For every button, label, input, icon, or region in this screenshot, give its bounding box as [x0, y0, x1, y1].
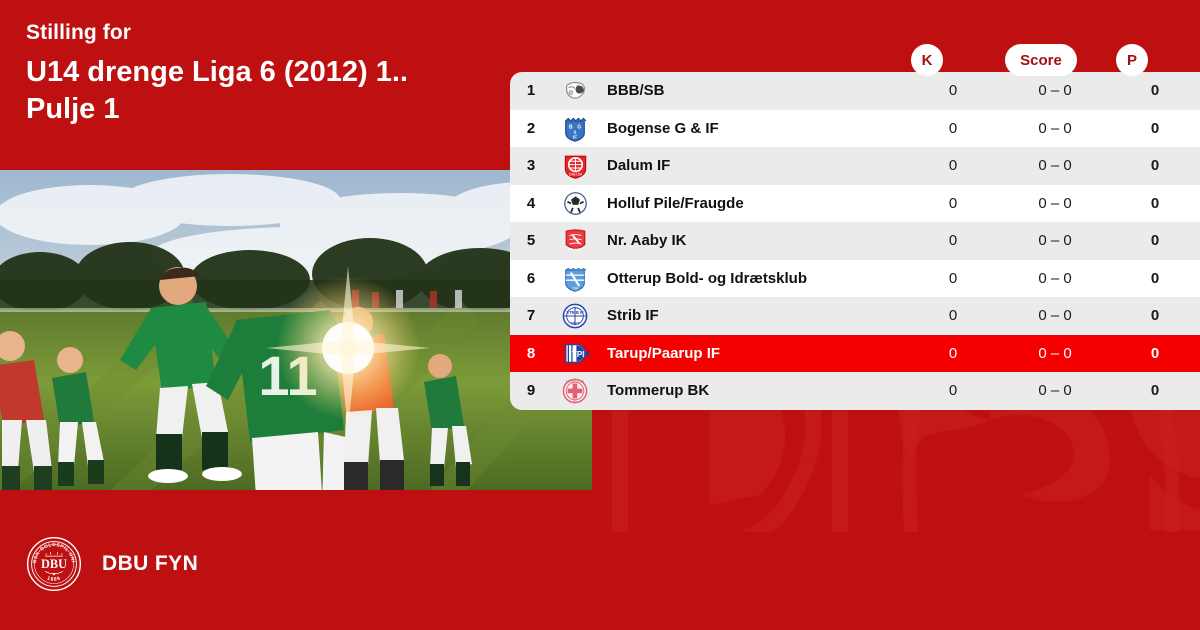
row-team-name: Nr. Aaby IK	[598, 232, 906, 249]
table-row[interactable]: 6 OBI Otterup Bold- og Idrætsklub00 – 00	[510, 260, 1200, 298]
row-rank: 2	[510, 120, 552, 137]
row-matches-played: 0	[906, 345, 1000, 362]
row-team-name: Tommerup BK	[598, 382, 906, 399]
row-goal-score: 0 – 0	[1000, 120, 1110, 137]
svg-text:B: B	[569, 124, 573, 130]
row-goal-score: 0 – 0	[1000, 270, 1110, 287]
football-match-photo: 11	[0, 170, 592, 490]
row-team-name: Strib IF	[598, 307, 906, 324]
table-row[interactable]: 1 BBB/SB00 – 00	[510, 72, 1200, 110]
bbbsb-crest-icon	[552, 78, 598, 104]
row-rank: 8	[510, 345, 552, 362]
row-goal-score: 0 – 0	[1000, 157, 1110, 174]
row-matches-played: 0	[906, 157, 1000, 174]
row-matches-played: 0	[906, 82, 1000, 99]
table-row[interactable]: 9 TOMMERUP BK Tommerup BK00 – 00	[510, 372, 1200, 410]
row-team-name: Tarup/Paarup IF	[598, 345, 906, 362]
row-goal-score: 0 – 0	[1000, 307, 1110, 324]
row-points: 0	[1110, 307, 1200, 324]
column-header-badges: K Score P	[880, 44, 1180, 76]
dalum-crest-icon: DALUM	[552, 152, 598, 179]
kicker-label: Stilling for	[26, 20, 496, 46]
svg-text:1889: 1889	[46, 576, 62, 583]
row-points: 0	[1110, 345, 1200, 362]
row-rank: 3	[510, 157, 552, 174]
header-block: Stilling for U14 drenge Liga 6 (2012) 1.…	[26, 20, 496, 128]
page-title: U14 drenge Liga 6 (2012) 1.. Pulje 1	[26, 54, 496, 128]
column-badge-score: Score	[1005, 44, 1077, 76]
standings-card: 11	[0, 0, 1200, 630]
table-row[interactable]: 4 Holluf Pile/Fraugde00 – 00	[510, 185, 1200, 223]
table-row[interactable]: 5 NR AABY Nr. Aaby IK00 – 00	[510, 222, 1200, 260]
row-rank: 5	[510, 232, 552, 249]
row-matches-played: 0	[906, 195, 1000, 212]
bogense-crest-icon: B G & IF	[552, 115, 598, 142]
row-points: 0	[1110, 232, 1200, 249]
column-badge-k: K	[911, 44, 943, 76]
row-rank: 9	[510, 382, 552, 399]
strib-crest-icon: STRIB IF 1912	[552, 303, 598, 329]
row-points: 0	[1110, 195, 1200, 212]
footer-brand-label: DBU FYN	[102, 552, 198, 576]
row-matches-played: 0	[906, 270, 1000, 287]
row-goal-score: 0 – 0	[1000, 345, 1110, 362]
row-points: 0	[1110, 270, 1200, 287]
row-team-name: Holluf Pile/Fraugde	[598, 195, 906, 212]
svg-text:NR AABY: NR AABY	[568, 248, 583, 252]
row-rank: 6	[510, 270, 552, 287]
row-rank: 7	[510, 307, 552, 324]
row-points: 0	[1110, 382, 1200, 399]
row-team-name: Otterup Bold- og Idrætsklub	[598, 270, 906, 287]
hollufpile-crest-icon	[552, 191, 598, 216]
svg-text:DALUM: DALUM	[568, 173, 581, 177]
row-matches-played: 0	[906, 232, 1000, 249]
row-points: 0	[1110, 120, 1200, 137]
tommerup-crest-icon: TOMMERUP BK	[552, 378, 598, 404]
row-matches-played: 0	[906, 382, 1000, 399]
table-row[interactable]: 2 B G & IF Bogense G & IF00 – 00	[510, 110, 1200, 148]
row-goal-score: 0 – 0	[1000, 232, 1110, 249]
table-row[interactable]: 8 TPI Tarup/Paarup IF00 – 00	[510, 335, 1200, 373]
table-row[interactable]: 3 DALUM Dalum IF00 – 00	[510, 147, 1200, 185]
row-team-name: BBB/SB	[598, 82, 906, 99]
standings-table: 1 BBB/SB00 – 002 B G & IF Bogense G & IF…	[510, 72, 1200, 410]
row-goal-score: 0 – 0	[1000, 195, 1110, 212]
row-rank: 1	[510, 82, 552, 99]
svg-text:TOMMERUP: TOMMERUP	[566, 379, 584, 383]
svg-text:G: G	[577, 124, 581, 130]
row-team-name: Dalum IF	[598, 157, 906, 174]
otterup-crest-icon: OBI	[552, 265, 598, 292]
row-matches-played: 0	[906, 307, 1000, 324]
svg-text:STRIB IF: STRIB IF	[566, 310, 584, 315]
row-matches-played: 0	[906, 120, 1000, 137]
table-row[interactable]: 7 STRIB IF 1912 Strib IF00 – 00	[510, 297, 1200, 335]
svg-text:OBI: OBI	[572, 286, 578, 290]
svg-text:DBU: DBU	[41, 557, 67, 571]
svg-text:TPI: TPI	[571, 350, 583, 359]
column-badge-p: P	[1116, 44, 1148, 76]
row-rank: 4	[510, 195, 552, 212]
svg-text:IF: IF	[573, 134, 577, 139]
row-goal-score: 0 – 0	[1000, 82, 1110, 99]
row-points: 0	[1110, 82, 1200, 99]
row-points: 0	[1110, 157, 1200, 174]
taruppaarup-crest-icon: TPI	[552, 341, 598, 366]
svg-text:1912: 1912	[571, 321, 579, 325]
row-team-name: Bogense G & IF	[598, 120, 906, 137]
footer: DANSK·BOLDSPIL·UNION 1889 DBU DBU FYN	[26, 536, 198, 592]
nraaby-crest-icon: NR AABY	[552, 227, 598, 254]
dbu-seal-icon: DANSK·BOLDSPIL·UNION 1889 DBU	[26, 536, 82, 592]
row-goal-score: 0 – 0	[1000, 382, 1110, 399]
